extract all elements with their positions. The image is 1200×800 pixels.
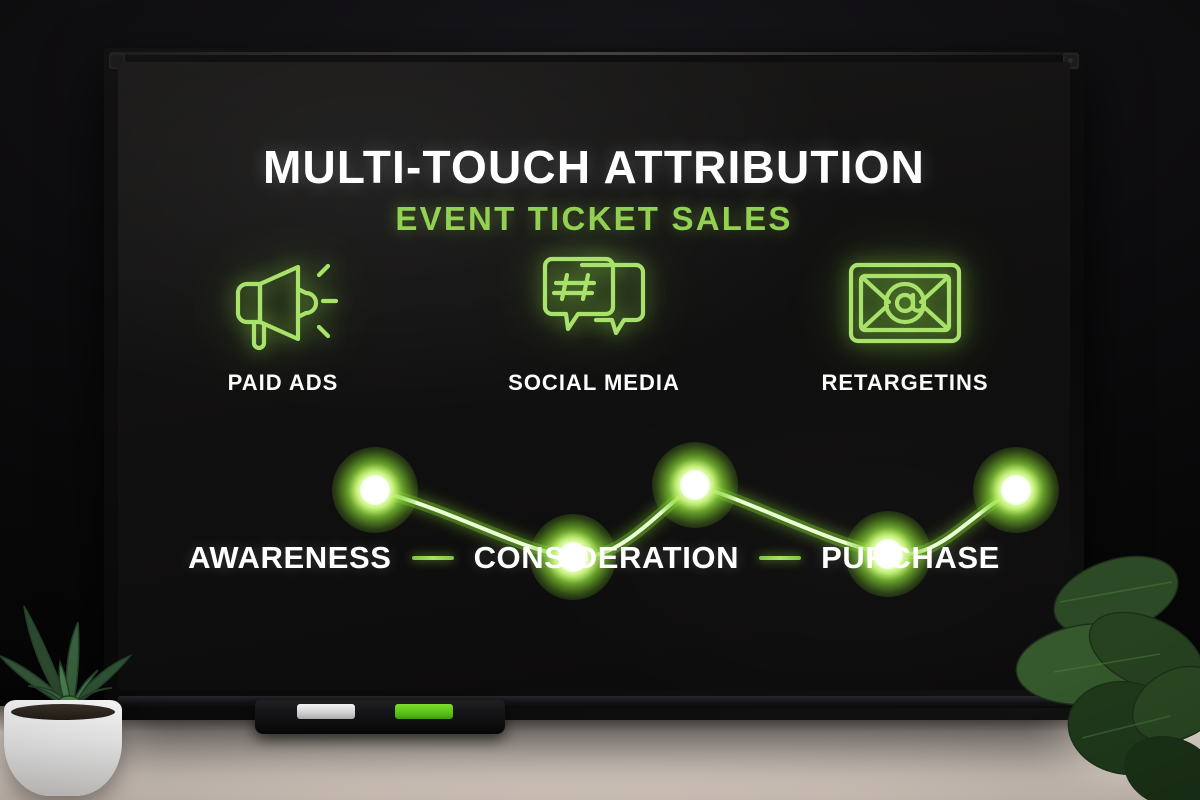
- green-marker[interactable]: [395, 704, 453, 719]
- leafy-plant-right: [1020, 556, 1200, 800]
- channel-paid-ads[interactable]: PAID ADS: [158, 244, 408, 396]
- whiteboard-frame: MULTI-TOUCH ATTRIBUTION EVENT TICKET SAL…: [104, 48, 1084, 720]
- journey-node[interactable]: [680, 470, 710, 500]
- channel-social-media[interactable]: SOCIAL MEDIA: [469, 244, 719, 396]
- stage-label-purchase[interactable]: PURCHASE: [821, 540, 1000, 576]
- channel-retargeting[interactable]: RETARGETINS: [780, 244, 1030, 396]
- journey-node[interactable]: [1001, 475, 1031, 505]
- white-marker[interactable]: [297, 704, 355, 719]
- stages-row: AWARENESS CONSIDERATION PURCHASE: [128, 540, 1060, 576]
- megaphone-icon: [213, 244, 353, 362]
- channels-row: PAID ADS SOCIAL MEDIA: [158, 244, 1030, 396]
- page-title: MULTI-TOUCH ATTRIBUTION: [118, 140, 1070, 194]
- marker-tray: [255, 700, 505, 734]
- page-subtitle: EVENT TICKET SALES: [118, 200, 1070, 238]
- plant-pot-white: [4, 700, 122, 796]
- stage-label-awareness[interactable]: AWARENESS: [188, 540, 392, 576]
- speech-bubbles-hashtag-icon: [524, 244, 664, 362]
- stage-label-consideration[interactable]: CONSIDERATION: [474, 540, 740, 576]
- scene-root: MULTI-TOUCH ATTRIBUTION EVENT TICKET SAL…: [0, 0, 1200, 800]
- journey-node[interactable]: [360, 475, 390, 505]
- stage-separator: [759, 556, 801, 560]
- board-surface: MULTI-TOUCH ATTRIBUTION EVENT TICKET SAL…: [118, 62, 1070, 690]
- envelope-at-icon: [835, 244, 975, 362]
- stage-separator: [412, 556, 454, 560]
- journey-curve-chart: [158, 392, 1030, 552]
